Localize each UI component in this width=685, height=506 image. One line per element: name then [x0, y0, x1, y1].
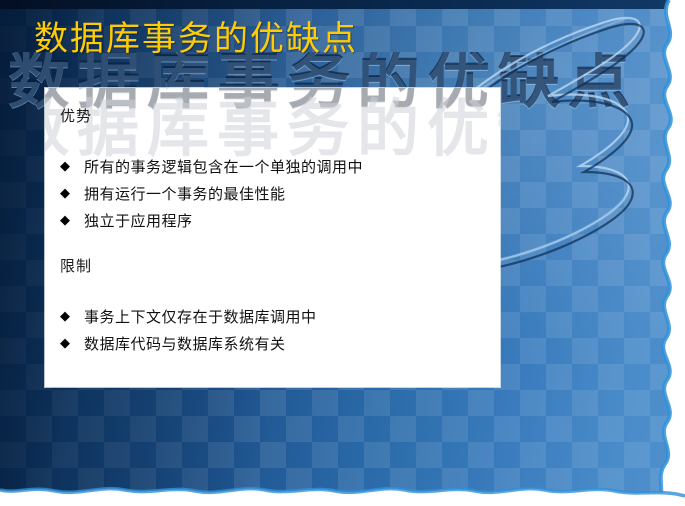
section-heading-advantages: 优势 — [60, 106, 92, 126]
list-item: ◆ 拥有运行一个事务的最佳性能 — [60, 183, 363, 205]
section-heading-limitations: 限制 — [60, 256, 92, 276]
list-item: ◆ 数据库代码与数据库系统有关 — [60, 333, 317, 355]
list-item: ◆ 独立于应用程序 — [60, 210, 363, 232]
diamond-bullet-icon: ◆ — [60, 210, 84, 232]
list-item: ◆ 事务上下文仅存在于数据库调用中 — [60, 306, 317, 328]
content-card: 数据库事务的优缺点 数据库事务的优缺点 优势 ◆ 所有的事务逻辑包含在一个单独的… — [45, 88, 500, 387]
torn-edge-bottom — [0, 480, 685, 506]
content-card-inner: 优势 ◆ 所有的事务逻辑包含在一个单独的调用中 ◆ 拥有运行一个事务的最佳性能 … — [45, 88, 500, 387]
torn-edge-right — [651, 0, 685, 506]
diamond-bullet-icon: ◆ — [60, 156, 84, 178]
list-item: ◆ 所有的事务逻辑包含在一个单独的调用中 — [60, 156, 363, 178]
bullet-list-advantages: ◆ 所有的事务逻辑包含在一个单独的调用中 ◆ 拥有运行一个事务的最佳性能 ◆ 独… — [60, 156, 363, 237]
diamond-bullet-icon: ◆ — [60, 333, 84, 355]
list-item-label: 拥有运行一个事务的最佳性能 — [84, 183, 286, 205]
top-navy-band — [0, 0, 685, 9]
bullet-list-limitations: ◆ 事务上下文仅存在于数据库调用中 ◆ 数据库代码与数据库系统有关 — [60, 306, 317, 360]
diamond-bullet-icon: ◆ — [60, 306, 84, 328]
presentation-slide: 数据库事务的优缺点 数据库事务的优缺点 数据库事务的优缺点 数据库事务的优缺点 … — [0, 0, 685, 506]
list-item-label: 所有的事务逻辑包含在一个单独的调用中 — [84, 156, 363, 178]
torn-edge-left — [0, 0, 14, 506]
list-item-label: 独立于应用程序 — [84, 210, 193, 232]
list-item-label: 事务上下文仅存在于数据库调用中 — [84, 306, 317, 328]
diamond-bullet-icon: ◆ — [60, 183, 84, 205]
slide-title: 数据库事务的优缺点 — [34, 18, 358, 60]
list-item-label: 数据库代码与数据库系统有关 — [84, 333, 286, 355]
